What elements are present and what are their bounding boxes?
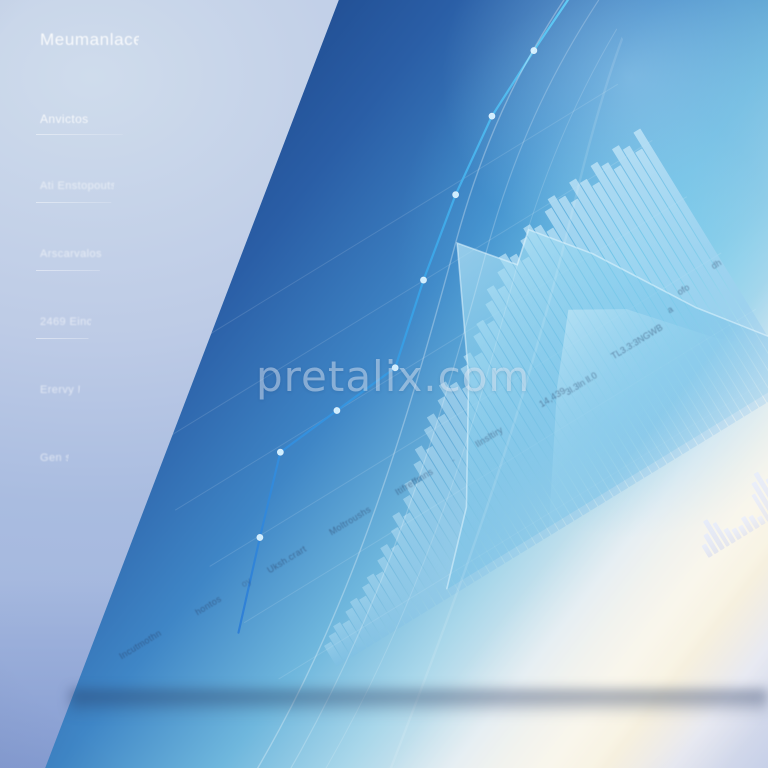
sidebar-item-label: Ati Enstopoutsd: [40, 180, 123, 192]
x-tick-1: hontos: [193, 594, 223, 618]
x-tick-6: -: [449, 455, 457, 465]
x-tick-7: Ilnsltiry: [473, 425, 504, 450]
sidebar-item-label: Arscarvalos: [40, 248, 102, 260]
x-tick-5: Itifreffmns: [393, 466, 435, 497]
card-floor-shadow: [70, 690, 768, 716]
y-tick-0: 3l.3ln ll.0: [563, 370, 599, 397]
y-tick-1: TL3.3:3NGWB: [609, 322, 664, 361]
page-title: Meumanlace: [40, 30, 143, 50]
x-tick-2: oy: [239, 575, 253, 589]
y-tick-4: dh: [709, 258, 723, 272]
y-tick-2: a: [665, 304, 675, 315]
x-tick-4: Moltroushs: [327, 504, 372, 537]
sidebar-item-label: Anvictos: [40, 112, 89, 126]
x-tick-0: Incutmothn: [117, 628, 163, 661]
y-tick-3: ofo: [675, 282, 691, 297]
x-tick-3: Uksh.crart: [265, 544, 308, 576]
screenshot-canvas: Incutmothn hontos oy Uksh.crart Moltrous…: [0, 0, 768, 768]
